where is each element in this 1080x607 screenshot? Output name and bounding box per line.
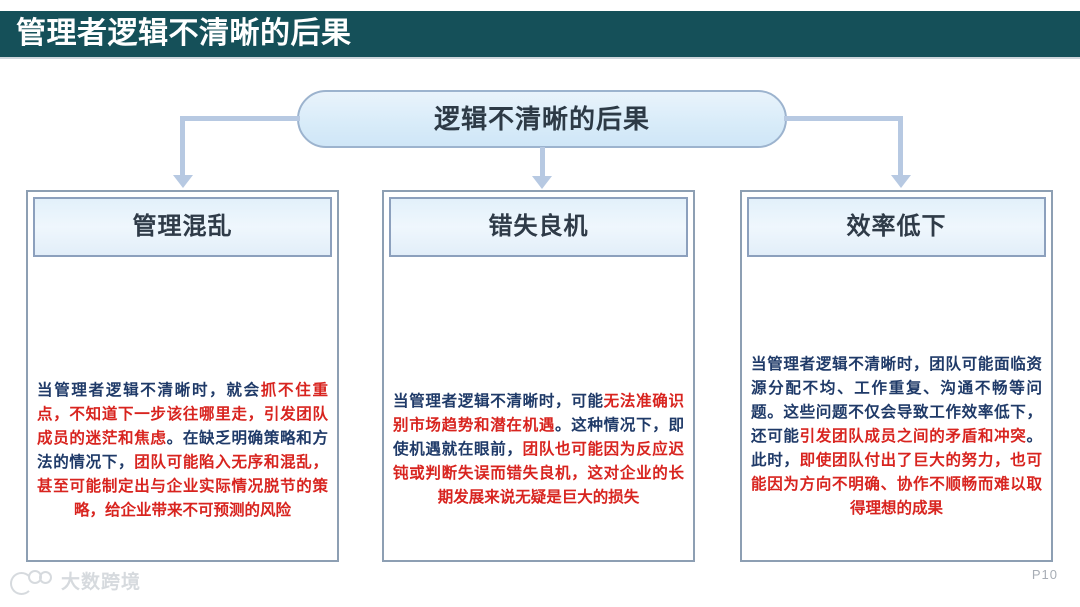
page-number: P10 [1032,568,1058,581]
highlighted-text: 引发团队成员之间的矛盾和冲突 [800,428,1027,445]
slide-canvas: 管理者逻辑不清晰的后果 逻辑不清晰的后果 管理混乱 当管理者逻辑不清晰时，就会抓… [0,0,1080,607]
circles-logo-icon [10,570,54,594]
card-body: 当管理者逻辑不清晰时，就会抓不住重点，不知道下一步该往哪里走，引发团队成员的迷茫… [37,270,328,552]
plain-text: 当管理者逻辑不清晰时，可能 [393,393,604,410]
watermark: 大数跨境 [10,570,141,594]
card-title: 效率低下 [847,215,947,239]
card-body-text: 当管理者逻辑不清晰时，可能无法准确识别市场趋势和潜在机遇。这种情况下，即使机遇就… [393,390,684,510]
card-title: 管理混乱 [133,215,233,239]
card-body: 当管理者逻辑不清晰时，团队可能面临资源分配不均、工作重复、沟通不畅等问题。这些问… [751,270,1042,552]
consequence-card-low-efficiency: 效率低下 当管理者逻辑不清晰时，团队可能面临资源分配不均、工作重复、沟通不畅等问… [740,190,1053,562]
card-header: 效率低下 [747,197,1046,257]
connector-right-arrow-icon [891,175,911,188]
card-title: 错失良机 [489,215,589,239]
page-title: 管理者逻辑不清晰的后果 [16,19,352,49]
card-body-text: 当管理者逻辑不清晰时，就会抓不住重点，不知道下一步该往哪里走，引发团队成员的迷茫… [37,379,328,523]
connector-left-vertical [180,116,185,176]
consequence-card-management-chaos: 管理混乱 当管理者逻辑不清晰时，就会抓不住重点，不知道下一步该往哪里走，引发团队… [26,190,339,562]
connector-left-horizontal [180,116,300,121]
connector-center-arrow-icon [532,176,552,189]
connector-left-arrow-icon [173,175,193,188]
header-divider [0,57,1080,59]
slide-header-band: 管理者逻辑不清晰的后果 [0,11,1080,57]
card-header: 管理混乱 [33,197,332,257]
plain-text: 当管理者逻辑不清晰时，就会 [37,382,261,399]
connector-center-vertical [540,147,545,177]
card-body: 当管理者逻辑不清晰时，可能无法准确识别市场趋势和潜在机遇。这种情况下，即使机遇就… [393,270,684,552]
card-body-text: 当管理者逻辑不清晰时，团队可能面临资源分配不均、工作重复、沟通不畅等问题。这些问… [751,353,1042,521]
card-header: 错失良机 [389,197,688,257]
root-node-label: 逻辑不清晰的后果 [434,106,650,132]
root-node: 逻辑不清晰的后果 [297,90,787,148]
connector-right-horizontal [784,116,903,121]
consequence-card-missed-opportunity: 错失良机 当管理者逻辑不清晰时，可能无法准确识别市场趋势和潜在机遇。这种情况下，… [382,190,695,562]
connector-right-vertical [898,116,903,176]
watermark-label: 大数跨境 [61,573,141,592]
